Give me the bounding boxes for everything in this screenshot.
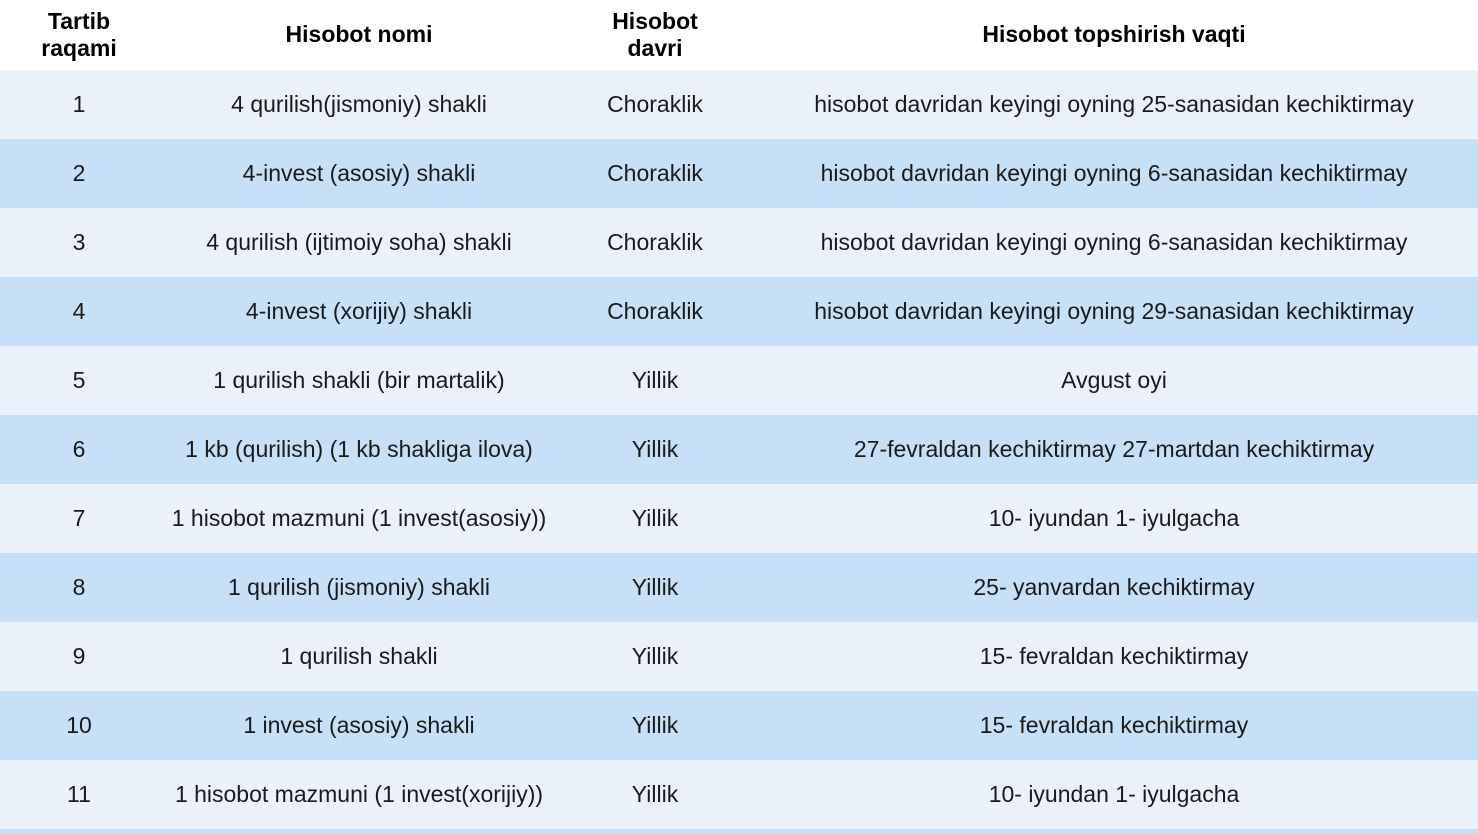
- cell-hisobot-nomi: 1 hisobot mazmuni (1 invest(xorijiy)): [158, 760, 560, 829]
- cell-hisobot-nomi: 4 qurilish (ijtimoiy soha) shakli: [158, 208, 560, 277]
- cell-hisobot-davri: Yillik: [560, 415, 750, 484]
- cell-tartib-raqami: 9: [0, 622, 158, 691]
- column-header-hisobot-topshirish-vaqti: Hisobot topshirish vaqti: [750, 0, 1478, 70]
- cell-hisobot-nomi: 1 invest (asosiy) shakli: [158, 691, 560, 760]
- table-header-row: Tartib raqami Hisobot nomi Hisobot davri…: [0, 0, 1478, 70]
- cell-hisobot-davri: Yillik: [560, 484, 750, 553]
- cell-hisobot-topshirish-vaqti: Avgust oyi: [750, 346, 1478, 415]
- cell-hisobot-topshirish-vaqti: 10- iyundan 1- iyulgacha: [750, 760, 1478, 829]
- cell-hisobot-davri: Yillik: [560, 346, 750, 415]
- cell-hisobot-nomi: 4 qurilish(jismoniy) shakli: [158, 70, 560, 139]
- table-row: 91 qurilish shakliYillik15- fevraldan ke…: [0, 622, 1478, 691]
- cell-hisobot-topshirish-vaqti: hisobot davridan keyingi oyning 29-sanas…: [750, 277, 1478, 346]
- cell-tartib-raqami: 3: [0, 208, 158, 277]
- column-header-tartib-raqami: Tartib raqami: [0, 0, 158, 70]
- cell-tartib-raqami: 7: [0, 484, 158, 553]
- cell-tartib-raqami: 10: [0, 691, 158, 760]
- cell-hisobot-davri: Choraklik: [560, 277, 750, 346]
- cell-tartib-raqami: 2: [0, 139, 158, 208]
- cell-hisobot-nomi: 1 kb (qurilish) (1 kb shakliga ilova): [158, 415, 560, 484]
- table-row: 14 qurilish(jismoniy) shakliChoraklikhis…: [0, 70, 1478, 139]
- cell-tartib-raqami: 11: [0, 760, 158, 829]
- table-header: Tartib raqami Hisobot nomi Hisobot davri…: [0, 0, 1478, 70]
- cell-hisobot-topshirish-vaqti: 25- yanvardan kechiktirmay: [750, 553, 1478, 622]
- cell-hisobot-topshirish-vaqti: [750, 829, 1478, 834]
- table-row: 24-invest (asosiy) shakliChoraklikhisobo…: [0, 139, 1478, 208]
- column-header-tartib-raqami-line1: Tartib: [48, 8, 110, 34]
- cell-tartib-raqami: 5: [0, 346, 158, 415]
- column-header-hisobot-topshirish-vaqti-label: Hisobot topshirish vaqti: [982, 21, 1245, 47]
- table-row: 111 hisobot mazmuni (1 invest(xorijiy))Y…: [0, 760, 1478, 829]
- cell-hisobot-davri: Yillik: [560, 760, 750, 829]
- column-header-tartib-raqami-line2: raqami: [41, 35, 116, 61]
- report-table-container: Tartib raqami Hisobot nomi Hisobot davri…: [0, 0, 1478, 834]
- table-row: 101 invest (asosiy) shakliYillik15- fevr…: [0, 691, 1478, 760]
- cell-hisobot-nomi: 1 hisobot mazmuni (1 invest(asosiy)): [158, 484, 560, 553]
- table-row: 44-invest (xorijiy) shakliChoraklikhisob…: [0, 277, 1478, 346]
- cell-tartib-raqami: 6: [0, 415, 158, 484]
- cell-hisobot-davri: Choraklik: [560, 208, 750, 277]
- cell-hisobot-davri: Yillik: [560, 553, 750, 622]
- cell-hisobot-topshirish-vaqti: hisobot davridan keyingi oyning 6-sanasi…: [750, 139, 1478, 208]
- cell-hisobot-topshirish-vaqti: 15- fevraldan kechiktirmay: [750, 691, 1478, 760]
- cell-hisobot-nomi: 4-invest (xorijiy) shakli: [158, 277, 560, 346]
- cell-hisobot-davri: Yillik: [560, 622, 750, 691]
- cell-tartib-raqami: 8: [0, 553, 158, 622]
- cell-hisobot-topshirish-vaqti: 10- iyundan 1- iyulgacha: [750, 484, 1478, 553]
- table-row: 61 kb (qurilish) (1 kb shakliga ilova)Yi…: [0, 415, 1478, 484]
- table-row: 34 qurilish (ijtimoiy soha) shakliChorak…: [0, 208, 1478, 277]
- cell-hisobot-davri: Choraklik: [560, 70, 750, 139]
- cell-hisobot-topshirish-vaqti: 15- fevraldan kechiktirmay: [750, 622, 1478, 691]
- cell-hisobot-topshirish-vaqti: hisobot davridan keyingi oyning 25-sanas…: [750, 70, 1478, 139]
- table-body: 14 qurilish(jismoniy) shakliChoraklikhis…: [0, 70, 1478, 834]
- column-header-hisobot-davri: Hisobot davri: [560, 0, 750, 70]
- table-row: 81 qurilish (jismoniy) shakliYillik25- y…: [0, 553, 1478, 622]
- cell-hisobot-davri: Choraklik: [560, 139, 750, 208]
- cell-hisobot-davri: [560, 829, 750, 834]
- cell-hisobot-topshirish-vaqti: 27-fevraldan kechiktirmay 27-martdan kec…: [750, 415, 1478, 484]
- cell-hisobot-nomi: 1 qurilish shakli: [158, 622, 560, 691]
- cell-hisobot-davri: Yillik: [560, 691, 750, 760]
- cell-hisobot-nomi: [158, 829, 560, 834]
- table-row: [0, 829, 1478, 834]
- column-header-hisobot-davri-line1: Hisobot: [612, 8, 698, 34]
- cell-hisobot-nomi: 4-invest (asosiy) shakli: [158, 139, 560, 208]
- column-header-hisobot-davri-line2: davri: [628, 35, 683, 61]
- hisobot-table: Tartib raqami Hisobot nomi Hisobot davri…: [0, 0, 1478, 834]
- cell-tartib-raqami: 4: [0, 277, 158, 346]
- cell-hisobot-nomi: 1 qurilish shakli (bir martalik): [158, 346, 560, 415]
- cell-hisobot-topshirish-vaqti: hisobot davridan keyingi oyning 6-sanasi…: [750, 208, 1478, 277]
- column-header-hisobot-nomi-label: Hisobot nomi: [286, 21, 433, 47]
- column-header-hisobot-nomi: Hisobot nomi: [158, 0, 560, 70]
- table-row: 51 qurilish shakli (bir martalik)YillikA…: [0, 346, 1478, 415]
- cell-tartib-raqami: [0, 829, 158, 834]
- table-row: 71 hisobot mazmuni (1 invest(asosiy))Yil…: [0, 484, 1478, 553]
- cell-tartib-raqami: 1: [0, 70, 158, 139]
- cell-hisobot-nomi: 1 qurilish (jismoniy) shakli: [158, 553, 560, 622]
